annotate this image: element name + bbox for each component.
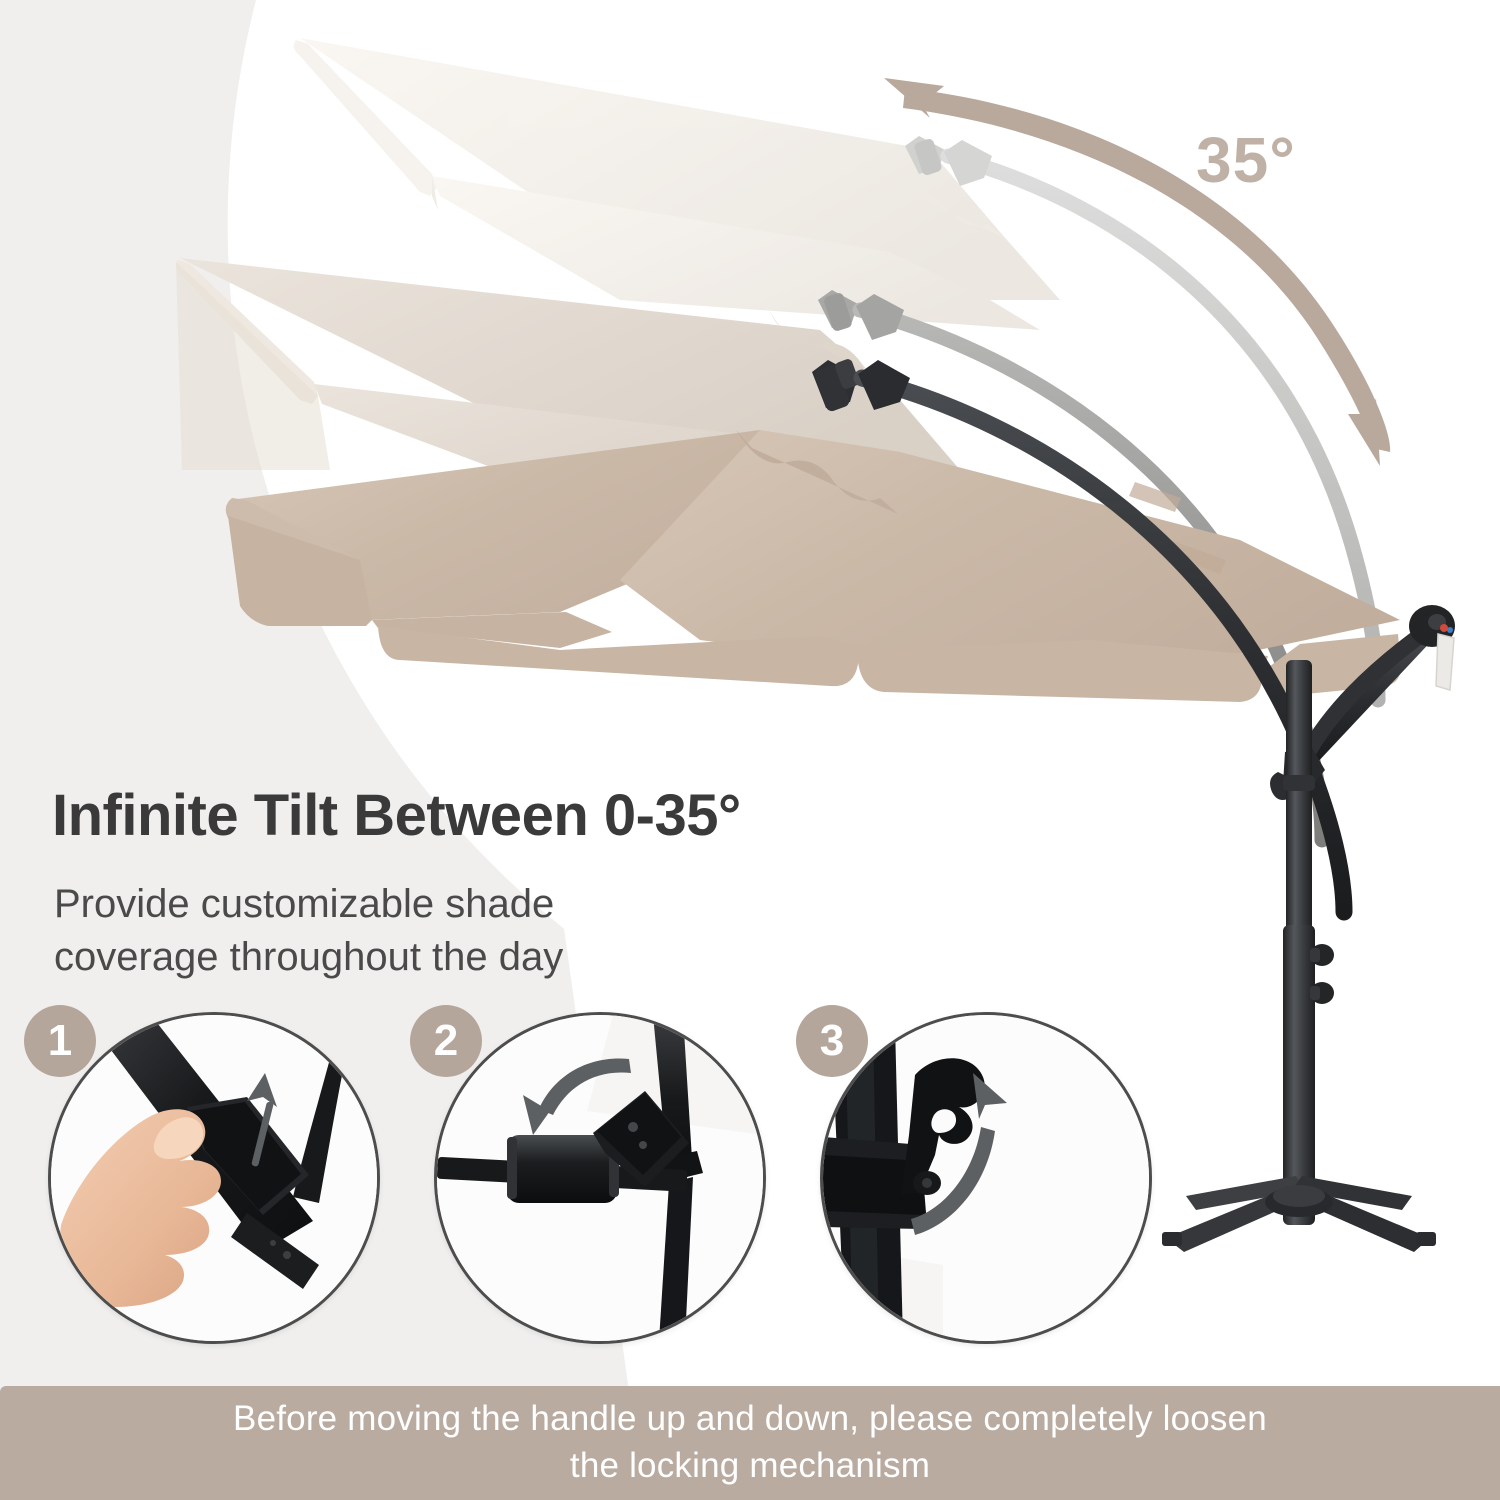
step-3-photo xyxy=(820,1012,1152,1344)
step-2-badge: 2 xyxy=(410,1005,482,1077)
page-subtitle-line-1: Provide customizable shade xyxy=(54,878,563,931)
step-gallery: 1 2 3 xyxy=(0,1000,1500,1340)
step-1 xyxy=(48,1012,378,1342)
step-1-badge: 1 xyxy=(24,1005,96,1077)
page-title: Infinite Tilt Between 0-35° xyxy=(52,782,741,849)
step-3-badge: 3 xyxy=(796,1005,868,1077)
bottom-banner-line-1: Before moving the handle up and down, pl… xyxy=(233,1396,1267,1443)
step-1-photo xyxy=(48,1012,380,1344)
page-subtitle-line-2: coverage throughout the day xyxy=(54,931,563,984)
infographic-canvas: 35° Infinite Tilt Between 0-35° Provide … xyxy=(0,0,1500,1500)
step-2-photo xyxy=(434,1012,766,1344)
bottom-banner: Before moving the handle up and down, pl… xyxy=(0,1386,1500,1500)
tilt-angle-label: 35° xyxy=(1196,123,1296,197)
page-subtitle: Provide customizable shade coverage thro… xyxy=(54,878,563,984)
bottom-banner-text: Before moving the handle up and down, pl… xyxy=(233,1396,1267,1489)
step-3 xyxy=(820,1012,1150,1342)
bottom-banner-line-2: the locking mechanism xyxy=(233,1443,1267,1490)
step-2 xyxy=(434,1012,764,1342)
